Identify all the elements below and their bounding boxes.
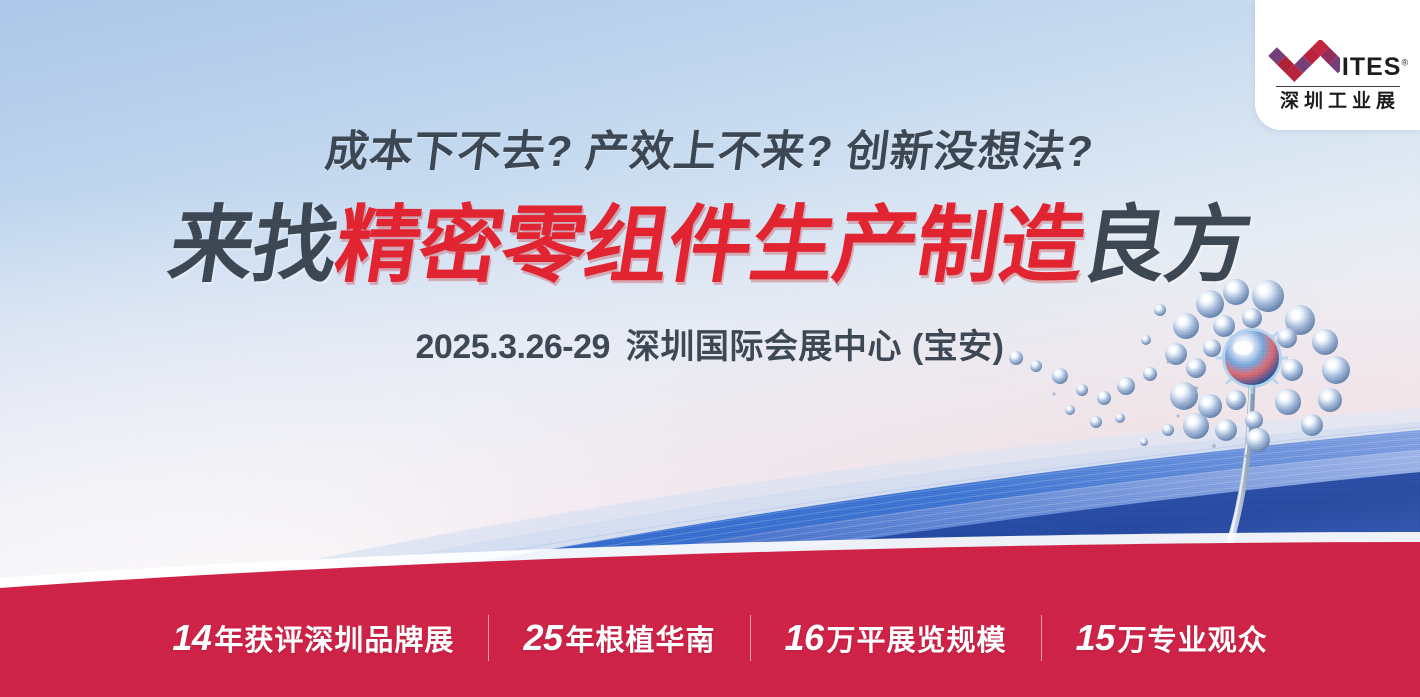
stat-number: 14 [172, 617, 211, 659]
kicker-text: 成本下不去? 产效上不来? 创新没想法? [0, 117, 1420, 179]
ites-logo-card[interactable]: ITES® 深圳工业展 [1255, 0, 1420, 130]
headline-emphasis: 精密零组件生产制造 [329, 198, 1091, 292]
stat-number: 16 [785, 617, 824, 659]
ites-diamond-chevron-icon [1266, 40, 1340, 82]
stat-item: 16万平展览规模 [751, 617, 1041, 659]
banner-copy: 成本下不去? 产效上不来? 创新没想法? 来找精密零组件生产制造良方 2025.… [0, 0, 1420, 368]
stat-number: 25 [523, 617, 562, 659]
logo-divider [1276, 86, 1400, 87]
headline-tail: 良方 [1076, 198, 1257, 292]
logo-wordmark-text: ITES [1342, 53, 1402, 81]
stat-item: 14年获评深圳品牌展 [138, 617, 488, 659]
stat-label: 万专业观众 [1118, 617, 1268, 659]
page-title: 来找精密零组件生产制造良方 [0, 203, 1420, 287]
registered-trademark-icon: ® [1401, 57, 1409, 67]
ites-exhibition-banner: 成本下不去? 产效上不来? 创新没想法? 来找精密零组件生产制造良方 2025.… [0, 0, 1420, 697]
stats-row: 14年获评深圳品牌展 25年根植华南 16万平展览规模 15万专业观众 [0, 579, 1420, 697]
stat-item: 25年根植华南 [489, 617, 749, 659]
stats-bar: 14年获评深圳品牌展 25年根植华南 16万平展览规模 15万专业观众 [0, 532, 1420, 697]
stat-label: 年获评深圳品牌展 [214, 617, 454, 659]
stat-label: 年根植华南 [565, 617, 715, 659]
stat-number: 15 [1076, 617, 1115, 659]
headline-lead: 来找 [163, 198, 344, 292]
logo-wordmark: ITES® [1342, 55, 1409, 80]
logo-lockup: ITES® [1266, 26, 1409, 82]
stat-label: 万平展览规模 [827, 617, 1007, 659]
stat-item: 15万专业观众 [1042, 617, 1302, 659]
logo-chinese-name: 深圳工业展 [1275, 92, 1400, 111]
